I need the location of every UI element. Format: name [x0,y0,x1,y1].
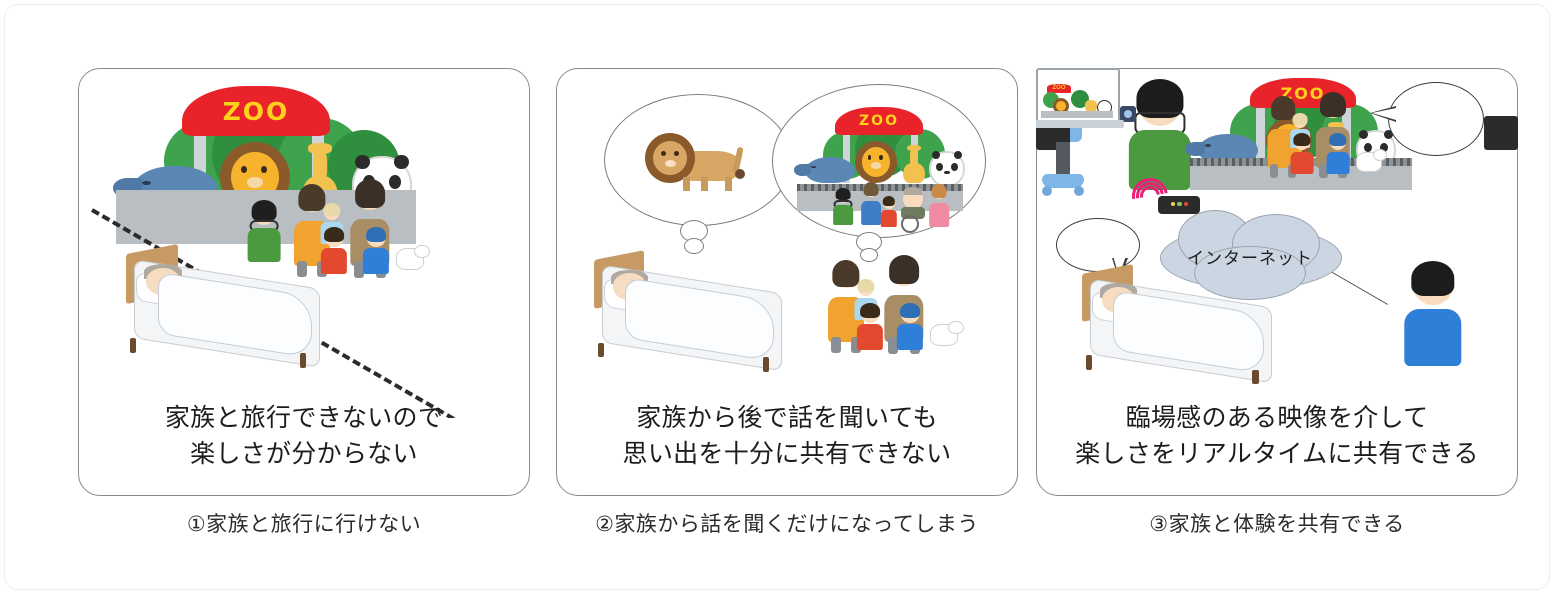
panel-2-text-line-1: 家族から後で話を聞いても [556,401,1018,437]
panel-3: ZOO [1036,68,1518,496]
panda-icon [929,151,965,187]
panel-3-illustration: ZOO [1036,68,1518,418]
laptop-screen: ZOO [1036,68,1120,124]
robot-arm [1484,116,1518,150]
panel-1-text-line-2: 楽しさが分からない [78,437,530,473]
dog-icon [1356,152,1382,172]
panel-3-text: 臨場感のある映像を介して 楽しさをリアルタイムに共有できる [1036,401,1518,472]
laptop-base [1036,120,1124,128]
internet-cloud-label: インターネット [1160,244,1340,269]
panel-3-text-line-2: 楽しさをリアルタイムに共有できる [1036,437,1518,473]
man-with-head-camera [1122,82,1198,190]
dog-icon [396,248,424,270]
person-child-red [318,228,350,274]
bed-leg [1086,355,1092,369]
person-child-red [1288,134,1316,174]
zoo-sign: ZOO [182,86,330,136]
zoo-sign-label: ZOO [859,113,899,129]
bedridden-person [1078,264,1274,384]
zoo-sign-label: ZOO [223,97,290,126]
person-child-red [854,304,886,350]
bed-leg [300,353,306,368]
speech-bubble-family-tail-fill [1372,108,1396,120]
panel-2-caption: ②家族から話を聞くだけになってしまう [556,508,1018,538]
thought-bubble-lion [604,94,792,226]
panel-3-caption: ③家族と体験を共有できる [1036,508,1518,538]
panel-container: ZOO [0,0,1558,602]
panel-1-text: 家族と旅行できないので 楽しさが分からない [78,401,530,472]
elephant-icon [805,157,855,183]
panel-1-caption: ①家族と旅行に行けない [78,508,530,538]
person-child-red [879,197,899,227]
bed-leg [1252,370,1258,384]
bed-leg [763,357,769,372]
laptop-zoo-video: ZOO [1041,82,1113,118]
zoo-sign: ZOO [835,107,923,135]
person-son-glasses [831,189,855,225]
wifi-router-icon [1158,196,1200,214]
speech-bubble-family [1388,82,1484,156]
dog-icon [930,324,958,346]
wheelchair-icon [899,189,929,227]
person-child-blue [894,304,926,350]
bed-leg [130,338,136,353]
robot-pole [1056,142,1070,176]
robot-wheel [1042,186,1052,196]
bedridden-person [122,244,322,368]
panel-2-text: 家族から後で話を聞いても 思い出を十分に共有できない [556,401,1018,472]
bedridden-person [590,250,784,372]
bed-leg [598,343,604,358]
lion-icon [855,141,897,183]
person-child-blue [1324,134,1352,174]
giraffe-icon [903,163,925,183]
man-with-laptop [1398,264,1468,366]
person-child-blue [360,228,392,274]
lion-illustration [641,129,753,191]
person-mother-pink [927,185,951,227]
panel-2-text-line-2: 思い出を十分に共有できない [556,437,1018,473]
thought-bubble-zoo-memory: ZOO [772,84,986,238]
robot-wheel [1074,186,1084,196]
panel-1-text-line-1: 家族と旅行できないので [78,401,530,437]
panel-1: ZOO [78,68,530,496]
thought-tail-bubble [860,248,878,262]
panel-2: ZOO [556,68,1018,496]
panel-3-text-line-1: 臨場感のある映像を介して [1036,401,1518,437]
panel-1-illustration: ZOO [78,68,530,418]
panel-2-illustration: ZOO [556,68,1018,418]
